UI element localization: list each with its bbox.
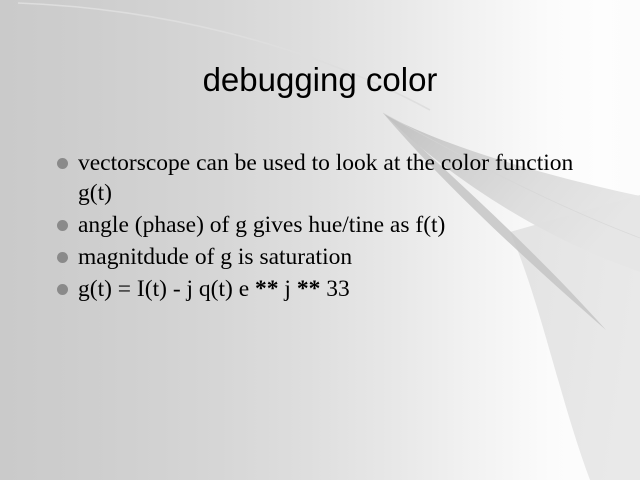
list-item: g(t) = I(t) - j q(t) e ** j ** 33 bbox=[52, 274, 592, 304]
bullet-marker-icon bbox=[57, 158, 68, 169]
list-item-label: g(t) = I(t) - j q(t) e ** j ** 33 bbox=[78, 274, 592, 304]
page-title: debugging color bbox=[0, 60, 640, 100]
slide-canvas: debugging color vectorscope can be used … bbox=[0, 0, 640, 480]
list-item-label: vectorscope can be used to look at the c… bbox=[78, 148, 592, 208]
bullet-marker-icon bbox=[57, 284, 68, 295]
exponent-operator: ** bbox=[297, 276, 321, 302]
list-item-label: magnitdude of g is saturation bbox=[78, 242, 592, 272]
list-item: angle (phase) of g gives hue/tine as f(t… bbox=[52, 210, 592, 240]
bullet-list: vectorscope can be used to look at the c… bbox=[52, 148, 592, 306]
list-item: vectorscope can be used to look at the c… bbox=[52, 148, 592, 208]
list-item: magnitdude of g is saturation bbox=[52, 242, 592, 272]
exponent-operator: ** bbox=[255, 276, 279, 302]
list-item-label: angle (phase) of g gives hue/tine as f(t… bbox=[78, 210, 592, 240]
bullet-marker-icon bbox=[57, 220, 68, 231]
bullet-marker-icon bbox=[57, 252, 68, 263]
